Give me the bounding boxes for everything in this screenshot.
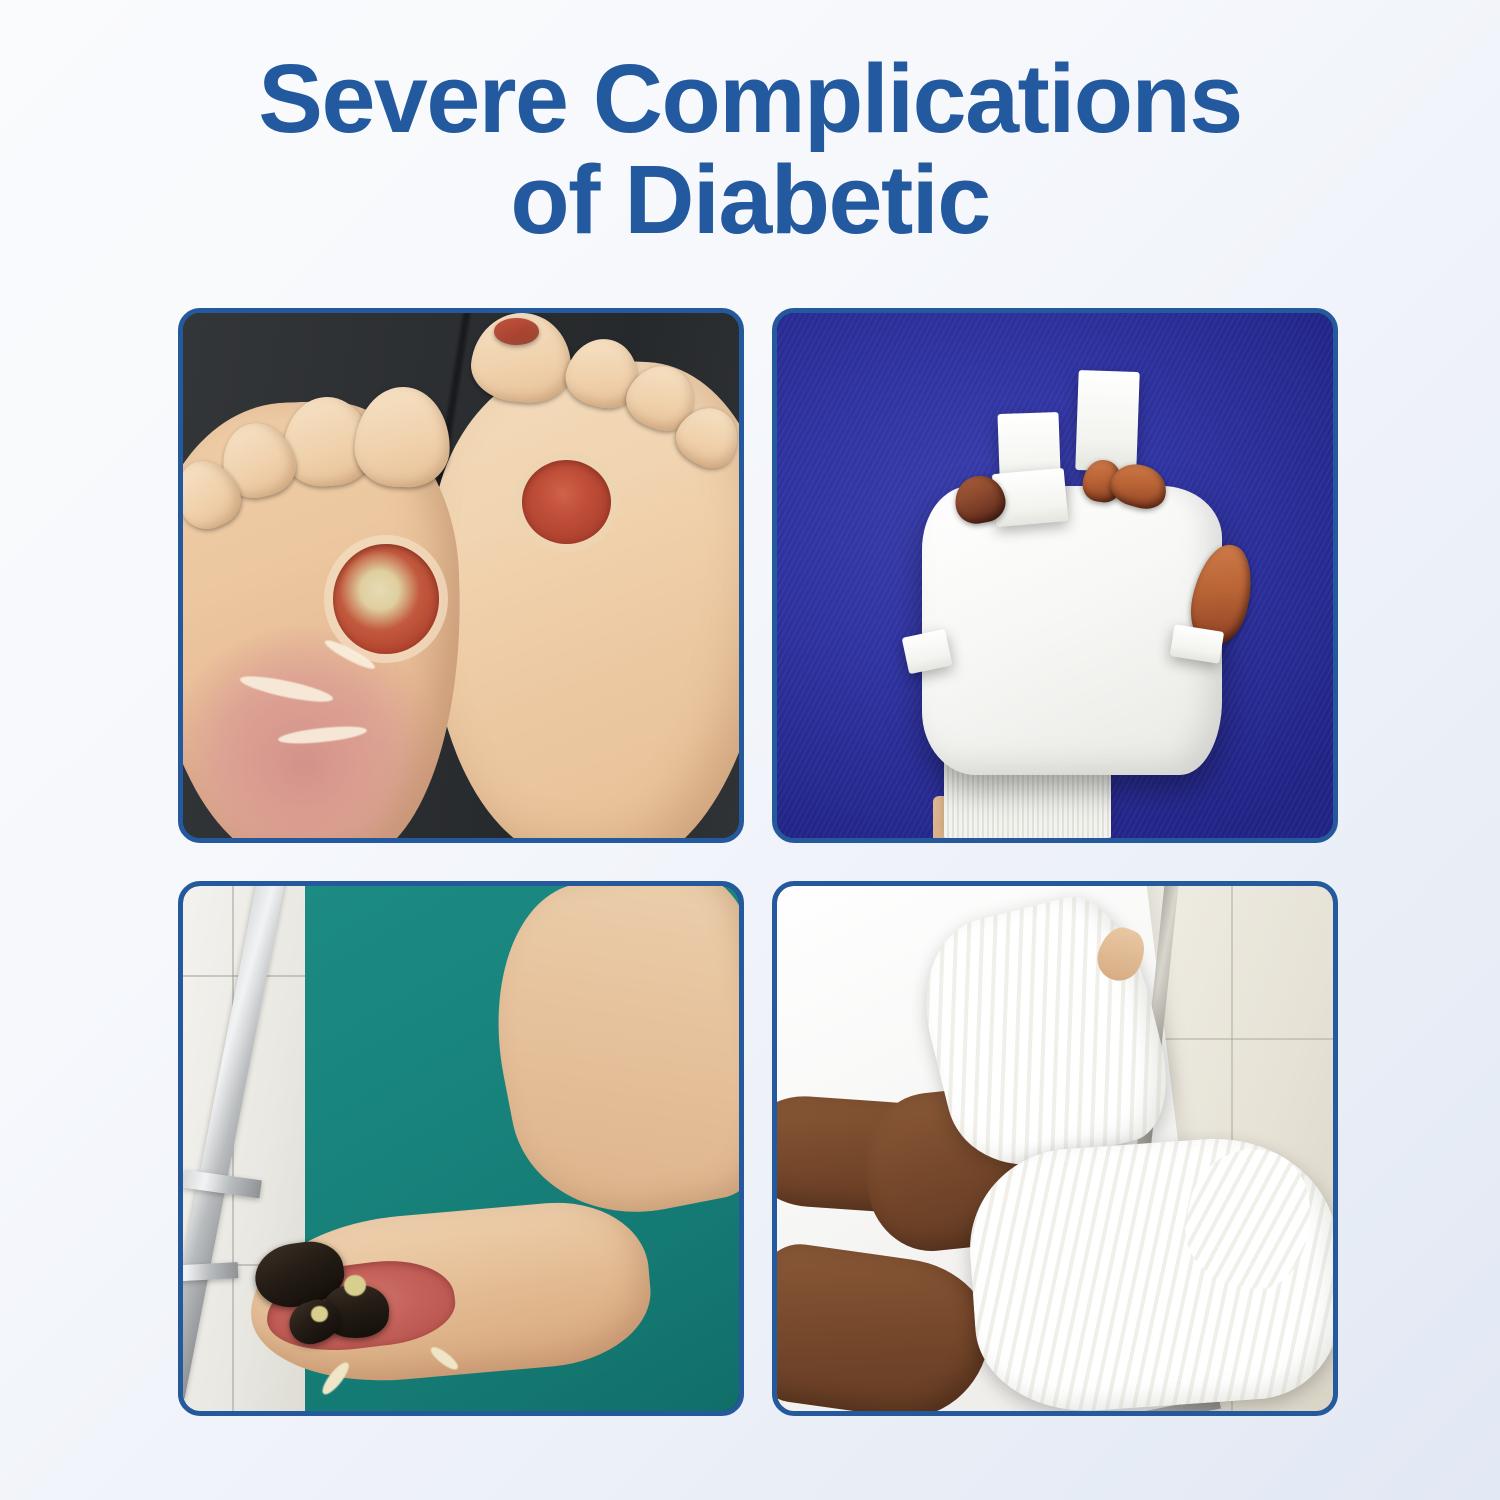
photo1-toe-gangrene-tip <box>494 318 538 344</box>
title-line-1: Severe Complications <box>0 48 1500 149</box>
photo-gallery-grid <box>178 308 1326 1416</box>
photo1-ulcer-left-foot <box>333 544 439 654</box>
photo-card-gangrenous-foot[interactable] <box>178 881 744 1416</box>
infographic-poster: Severe Complications of Diabetic <box>0 0 1500 1500</box>
photo-bandaged-feet <box>777 886 1333 1411</box>
photo4-tile-grout <box>1144 1038 1333 1040</box>
title-line-2: of Diabetic <box>0 149 1500 250</box>
photo1-ulcer-right-foot <box>522 460 611 544</box>
photo3-slough <box>344 1275 366 1296</box>
photo-plantar-ulcers <box>183 313 739 838</box>
photo-card-bandaged-feet[interactable] <box>772 881 1338 1416</box>
photo3-slough <box>311 1306 328 1322</box>
photo-card-bandaged-hand[interactable] <box>772 308 1338 843</box>
photo-bandaged-hand <box>777 313 1333 838</box>
photo2-gauze-tab <box>1076 370 1141 472</box>
photo-gangrenous-foot <box>183 886 739 1411</box>
photo-card-plantar-ulcers[interactable] <box>178 308 744 843</box>
page-title: Severe Complications of Diabetic <box>0 48 1500 250</box>
